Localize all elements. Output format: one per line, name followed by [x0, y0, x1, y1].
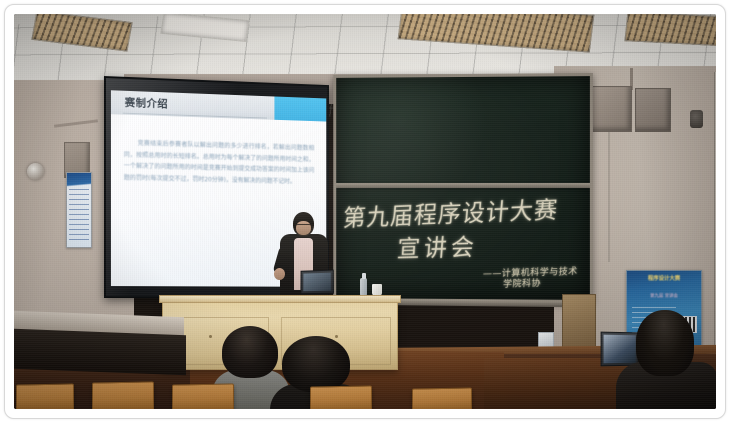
- glasses-icon: [296, 224, 311, 228]
- slide-body-text: 竞赛结束后参赛者队以解出问题的多少进行排名，若解出问题数相同，按照总用时的长短排…: [124, 138, 315, 188]
- front-bench-base: [14, 329, 186, 376]
- conduit-pipe: [608, 132, 610, 262]
- water-bottle: [360, 278, 367, 296]
- blackboard-signature-line-2: 学院科协: [503, 276, 542, 290]
- chair: [16, 383, 74, 409]
- audience-head: [636, 310, 694, 376]
- wall-speaker-icon: [690, 110, 703, 128]
- blackboard-heading-line-2: 宣讲会: [396, 228, 479, 264]
- blackboard-glare: [333, 73, 487, 210]
- podium-top-surface: [159, 295, 401, 303]
- blackboard-panel-divider: [336, 183, 590, 188]
- side-cabinet: [562, 294, 596, 350]
- wall-poster-left: [66, 172, 92, 248]
- ceiling-light-panel: [624, 14, 716, 47]
- podium-laptop: [300, 270, 334, 295]
- electrical-cabinet: [635, 88, 671, 132]
- slide-accent-block: [274, 96, 326, 121]
- chair: [172, 383, 234, 409]
- presenter-hand: [274, 268, 285, 280]
- chair: [310, 385, 372, 409]
- poster-subtitle: 第九届 宣讲会: [632, 294, 696, 300]
- blackboard: 第九届程序设计大赛 宣讲会 ——计算机科学与技术 学院科协: [333, 73, 593, 303]
- electrical-cabinet: [592, 86, 632, 132]
- photo-frame: 赛制介绍 竞赛结束后参赛者队以解出问题的多少进行排名，若解出问题数相同，按照总用…: [4, 4, 726, 419]
- photograph: 赛制介绍 竞赛结束后参赛者队以解出问题的多少进行排名，若解出问题数相同，按照总用…: [14, 14, 716, 409]
- chair: [412, 387, 472, 409]
- audience-head: [282, 336, 350, 392]
- poster-title: 程序设计大赛: [632, 276, 696, 283]
- slide-title: 赛制介绍: [125, 95, 168, 111]
- chair: [92, 381, 154, 409]
- wall-clock-icon: [27, 163, 44, 180]
- audience-member-right: [614, 310, 716, 409]
